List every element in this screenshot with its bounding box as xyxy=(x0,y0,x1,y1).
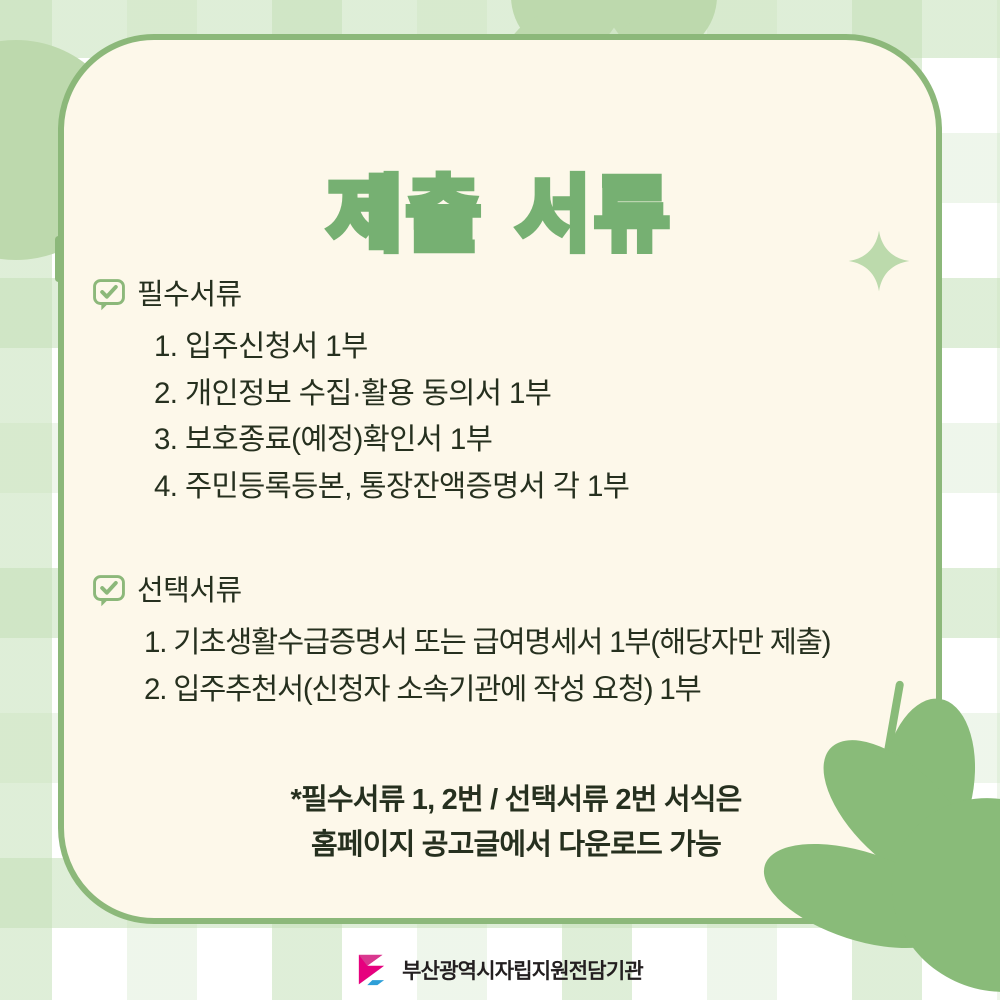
organization-name: 부산광역시자립지원전담기관 xyxy=(402,955,643,985)
section-title: 필수서류 xyxy=(137,281,242,310)
list-item: 2. 입주추천서(신청자 소속기관에 작성 요청) 1부 xyxy=(144,667,940,714)
list-item: 4. 주민등록등본, 통장잔액증명서 각 1부 xyxy=(154,464,940,511)
list-item: 1. 기초생활수급증명서 또는 급여명세서 1부(해당자만 제출) xyxy=(144,620,940,667)
section-optional: 선택서류 1. 기초생활수급증명서 또는 급여명세서 1부(해당자만 제출) 2… xyxy=(92,574,940,713)
required-document-list: 1. 입주신청서 1부 2. 개인정보 수집·활용 동의서 1부 3. 보호종료… xyxy=(92,324,940,510)
section-required: 필수서류 1. 입주신청서 1부 2. 개인정보 수집·활용 동의서 1부 3.… xyxy=(92,278,940,510)
optional-document-list: 1. 기초생활수급증명서 또는 급여명세서 1부(해당자만 제출) 2. 입주추… xyxy=(92,620,940,713)
section-header: 선택서류 xyxy=(92,574,940,608)
check-bubble-icon xyxy=(92,278,126,312)
check-bubble-icon xyxy=(92,574,126,608)
busan-logo-icon xyxy=(357,954,391,986)
section-title: 선택서류 xyxy=(137,577,242,606)
list-item: 3. 보호종료(예정)확인서 1부 xyxy=(154,417,940,464)
list-item: 2. 개인정보 수집·활용 동의서 1부 xyxy=(154,371,940,418)
poster-canvas: 제출 서류 필수서류 1. 입주신청서 1부 2. 개인정보 수집·활용 동의서… xyxy=(0,0,1000,1000)
page-title: 제출 서류 xyxy=(0,148,1000,267)
section-spacer xyxy=(92,514,940,574)
section-header: 필수서류 xyxy=(92,278,940,312)
footer: 부산광역시자립지원전담기관 xyxy=(0,954,1000,986)
list-item: 1. 입주신청서 1부 xyxy=(154,324,940,371)
